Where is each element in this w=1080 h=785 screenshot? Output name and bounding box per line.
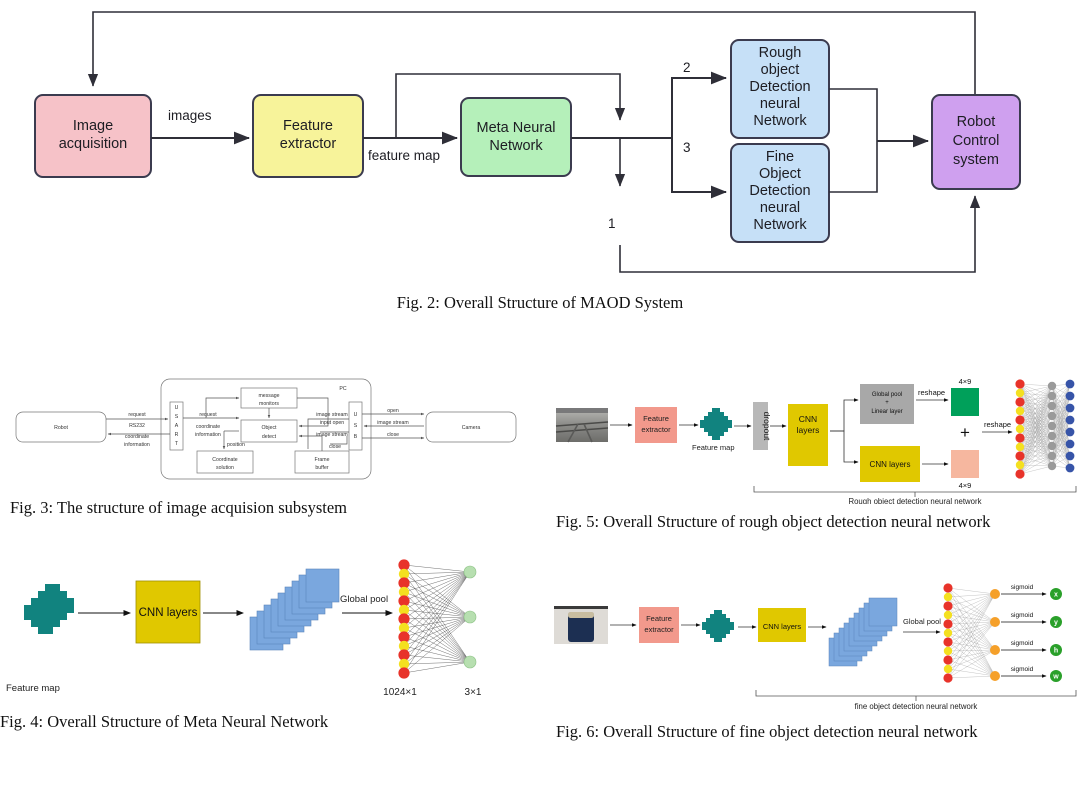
- fig5-label-cnn-branch: CNN layers: [870, 460, 911, 469]
- fig2-label-rough-2: object: [761, 62, 800, 78]
- fig3-label-frame-buffer-2: buffer: [315, 465, 328, 471]
- fig6-output-h: h: [1054, 648, 1058, 655]
- fig3-label-usart-u: U: [175, 405, 179, 411]
- fig2-edge-label-1: 1: [608, 216, 616, 231]
- fig5-tile-salmon: [951, 450, 979, 478]
- fig3-edge-close-mid: close: [329, 444, 341, 450]
- fig5-network-edges: [1020, 384, 1070, 474]
- figure-5-diagram: Feature extractor Feature map dropout CN…: [548, 376, 1080, 504]
- fig5-input-photo: [556, 408, 608, 442]
- fig2-edge-label-feature-map: feature map: [368, 148, 440, 163]
- fig6-input-nodes: [943, 583, 952, 682]
- fig3-label-coordinate-solution-2: solution: [216, 465, 234, 471]
- fig6-network-edges: [948, 588, 995, 678]
- fig3-label-usart-t: T: [175, 441, 179, 447]
- figure-3-diagram: Robot Camera PC U S A R T U S B message …: [8, 374, 528, 486]
- fig2-edge-label-2: 2: [683, 60, 691, 75]
- fig3-edge-image-stream-right: image stream: [377, 420, 408, 426]
- figure-3-caption: Fig. 3: The structure of image acquision…: [10, 498, 530, 518]
- figure-4-caption: Fig. 4: Overall Structure of Meta Neural…: [0, 712, 520, 732]
- fig4-label-output-dim: 3×1: [465, 687, 482, 698]
- fig6-label-sigmoid-1: sigmoid: [1011, 584, 1034, 591]
- fig3-edge-image-stream-input-open-2: input open: [320, 420, 344, 426]
- fig3-edge-close-right: close: [387, 432, 399, 438]
- fig6-label-sigmoid-4: sigmoid: [1011, 666, 1034, 673]
- fig2-label-meta-2: Network: [489, 138, 543, 154]
- fig4-conv-stack: [250, 569, 339, 650]
- fig5-label-feature-map: Feature map: [692, 443, 735, 452]
- figure-2-diagram: Image acquisition images Feature extract…: [0, 0, 1080, 285]
- fig2-label-fine-3: Detection: [749, 183, 810, 199]
- fig4-label-input-dim: 1024×1: [383, 687, 417, 698]
- fig5-label-cnn-main-2: layers: [797, 425, 820, 435]
- fig3-label-usart-s: S: [175, 414, 179, 420]
- fig2-label-fine-2: Object: [759, 166, 801, 182]
- fig2-label-meta-1: Meta Neural: [477, 120, 556, 136]
- fig5-tile-green: [951, 388, 979, 416]
- fig3-edge-request-left: request: [128, 412, 146, 418]
- fig3-label-object-detect-1: Object: [262, 425, 278, 431]
- fig5-left-nodes: [1015, 379, 1024, 478]
- fig2-label-robot-3: system: [953, 152, 999, 168]
- fig4-input-nodes: [398, 559, 409, 678]
- fig3-label-object-detect-2: detect: [262, 434, 277, 440]
- fig5-bracket: [754, 486, 1076, 497]
- fig6-label-global-pool: Global pool: [903, 617, 941, 626]
- fig5-label-dim-top: 4×9: [959, 377, 972, 386]
- fig3-label-usb-u: U: [354, 412, 358, 418]
- fig2-label-fine-5: Network: [753, 217, 807, 233]
- figure-5-caption: Fig. 5: Overall Structure of rough objec…: [556, 512, 1072, 532]
- fig3-edge-position: position: [227, 442, 245, 448]
- fig2-box-meta-neural-network: [461, 98, 571, 176]
- fig5-label-plus: +: [960, 423, 970, 442]
- fig2-label-fine-1: Fine: [766, 149, 794, 165]
- fig2-label-fine-4: neural: [760, 200, 800, 216]
- fig3-edge-coordinate-information-inner-1: coordinate: [196, 424, 220, 430]
- fig5-label-feature-extractor-1: Feature: [643, 414, 669, 423]
- fig2-label-robot-2: Control: [953, 133, 1000, 149]
- fig4-output-nodes: [464, 566, 476, 668]
- fig3-label-coordinate-solution-1: Coordinate: [212, 457, 237, 463]
- fig2-label-robot-1: Robot: [957, 114, 996, 130]
- fig3-label-message-monitors-1: message: [258, 393, 279, 399]
- fig3-label-camera: Camera: [462, 425, 481, 431]
- fig2-label-feature-extractor-2: extractor: [280, 136, 337, 152]
- figure-6-caption: Fig. 6: Overall Structure of fine object…: [556, 722, 1072, 742]
- fig6-label-cnn-layers: CNN layers: [763, 622, 802, 631]
- fig3-label-usart-a: A: [175, 423, 179, 429]
- fig4-feature-map-shape: [24, 584, 74, 634]
- fig5-feature-map-shape: [700, 408, 732, 440]
- fig3-label-usart-r: R: [175, 432, 179, 438]
- fig6-output-x: x: [1054, 592, 1058, 599]
- fig6-label-sigmoid-3: sigmoid: [1011, 640, 1034, 647]
- figure-4-diagram: Feature map CNN layers Global pool: [0, 555, 530, 703]
- fig5-label-cnn-main-1: CNN: [799, 414, 817, 424]
- fig3-label-usb-b: B: [354, 434, 358, 440]
- fig5-label-gp-1: Global pool: [872, 392, 902, 398]
- fig2-edge-label-3: 3: [683, 140, 691, 155]
- fig4-label-global-pool: Global pool: [340, 594, 388, 605]
- fig5-label-feature-extractor-2: extractor: [641, 425, 671, 434]
- fig6-input-photo: [554, 606, 608, 644]
- fig2-label-image-acquisition-1: Image: [73, 118, 113, 134]
- fig3-edge-request-inner: request: [199, 412, 217, 418]
- fig4-label-feature-map: Feature map: [6, 683, 60, 694]
- fig2-label-rough-5: Network: [753, 113, 807, 129]
- fig3-label-frame-buffer-1: Frame: [315, 457, 330, 463]
- fig5-label-reshape-top: reshape: [918, 388, 945, 397]
- fig3-edge-image-stream-input-open-1: image stream: [316, 412, 347, 418]
- fig2-edge-label-images: images: [168, 108, 212, 123]
- fig2-label-rough-1: Rough: [759, 45, 802, 61]
- fig5-mid-nodes: [1048, 382, 1056, 470]
- fig2-label-feature-extractor-1: Feature: [283, 118, 333, 134]
- fig6-output-y: y: [1054, 620, 1058, 627]
- fig6-bracket: [756, 690, 1076, 701]
- fig5-label-gp-2: +: [885, 400, 889, 406]
- fig2-label-image-acquisition-2: acquisition: [59, 136, 128, 152]
- fig3-edge-rs232: RS232: [129, 423, 145, 429]
- fig6-hidden-nodes: [990, 589, 1000, 681]
- fig3-label-robot: Robot: [54, 425, 68, 431]
- fig6-conv-stack: [829, 598, 897, 666]
- fig6-output-w: w: [1052, 674, 1059, 681]
- fig3-edge-image-stream-mid: image stream: [316, 432, 347, 438]
- figure-2-caption: Fig. 2: Overall Structure of MAOD System: [0, 293, 1080, 313]
- fig3-label-usb-s: S: [354, 423, 358, 429]
- fig6-feature-map-shape: [702, 610, 734, 642]
- fig6-label-bracket: fine object detection neural network: [855, 702, 978, 711]
- fig3-edge-coordinate-information-left-2: information: [124, 442, 150, 448]
- fig4-network-edges: [404, 565, 470, 673]
- fig6-label-feature-extractor-1: Feature: [646, 614, 672, 623]
- fig6-label-feature-extractor-2: extractor: [644, 625, 674, 634]
- fig6-output-nodes: [1050, 588, 1062, 682]
- fig3-label-pc: PC: [339, 386, 346, 392]
- fig4-label-cnn-layers: CNN layers: [139, 607, 198, 619]
- fig2-label-rough-3: Detection: [749, 79, 810, 95]
- fig2-label-rough-4: neural: [760, 96, 800, 112]
- fig5-label-gp-3: Linear layer: [871, 409, 902, 415]
- fig3-edge-coordinate-information-left-1: coordinate: [125, 434, 149, 440]
- fig3-label-message-monitors-2: monitors: [259, 401, 279, 407]
- fig3-edge-open-right: open: [387, 408, 399, 414]
- fig6-label-sigmoid-2: sigmoid: [1011, 612, 1034, 619]
- fig5-label-reshape-right: reshape: [984, 420, 1011, 429]
- fig3-edge-coordinate-information-inner-2: information: [195, 432, 221, 438]
- figure-6-diagram: Feature extractor CNN layers Global pool: [548, 572, 1080, 712]
- fig5-label-bracket: Rough object detection neural network: [848, 497, 981, 504]
- fig5-label-dim-bottom: 4×9: [959, 481, 972, 490]
